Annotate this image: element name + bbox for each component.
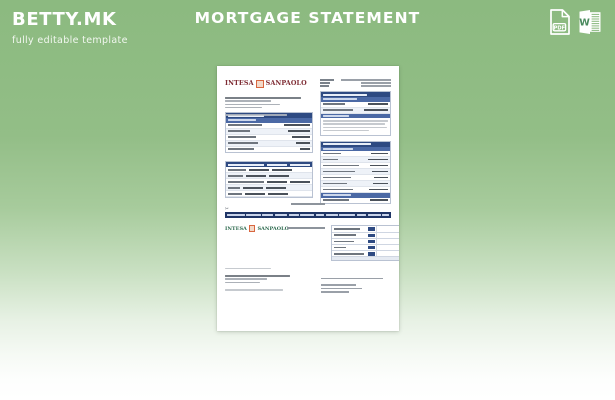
payment-coupon-band (225, 212, 391, 219)
stub-remit-block (321, 268, 391, 295)
recipient-address-block (225, 97, 313, 116)
contact-row (320, 85, 391, 87)
stub-logo-word-one: INTESA (225, 226, 247, 232)
payment-amount-grid[interactable] (331, 225, 399, 260)
stub-statement-date (287, 225, 325, 229)
file-format-icons: PDF W (549, 9, 602, 40)
bank-logo-word-one: INTESA (225, 79, 254, 88)
contact-row (320, 79, 391, 81)
stub-logo-word-two: SANPAOLO (257, 226, 289, 232)
square-mark-icon (256, 80, 264, 88)
payment-stub: INTESA SANPAOLO (225, 225, 391, 294)
svg-text:W: W (579, 18, 590, 29)
brand-tagline: fully editable template (12, 35, 222, 46)
bank-logo-word-two: SANPAOLO (266, 79, 307, 88)
pdf-file-icon[interactable]: PDF (549, 9, 571, 40)
table-row (321, 198, 390, 203)
document-content: INTESA SANPAOLO (225, 73, 391, 325)
table-note (321, 118, 390, 135)
payment-grid-footer (332, 257, 399, 259)
document-preview[interactable]: INTESA SANPAOLO (217, 66, 399, 331)
stub-bank-logo: INTESA SANPAOLO (225, 225, 281, 232)
word-file-icon[interactable]: W (578, 9, 602, 40)
page-title: MORTGAGE STATEMENT (0, 9, 615, 27)
contact-row (320, 82, 391, 84)
stub-address-block (225, 268, 313, 295)
bank-logo: INTESA SANPAOLO (225, 79, 313, 88)
table-mortgage-activity-statement (320, 91, 391, 136)
svg-text:PDF: PDF (554, 25, 566, 31)
contact-info-block (320, 79, 391, 208)
square-mark-icon (249, 225, 256, 232)
table-explanation-of-amount-due (320, 141, 391, 204)
promo-banner: BETTY.MK fully editable template MORTGAG… (0, 0, 615, 400)
